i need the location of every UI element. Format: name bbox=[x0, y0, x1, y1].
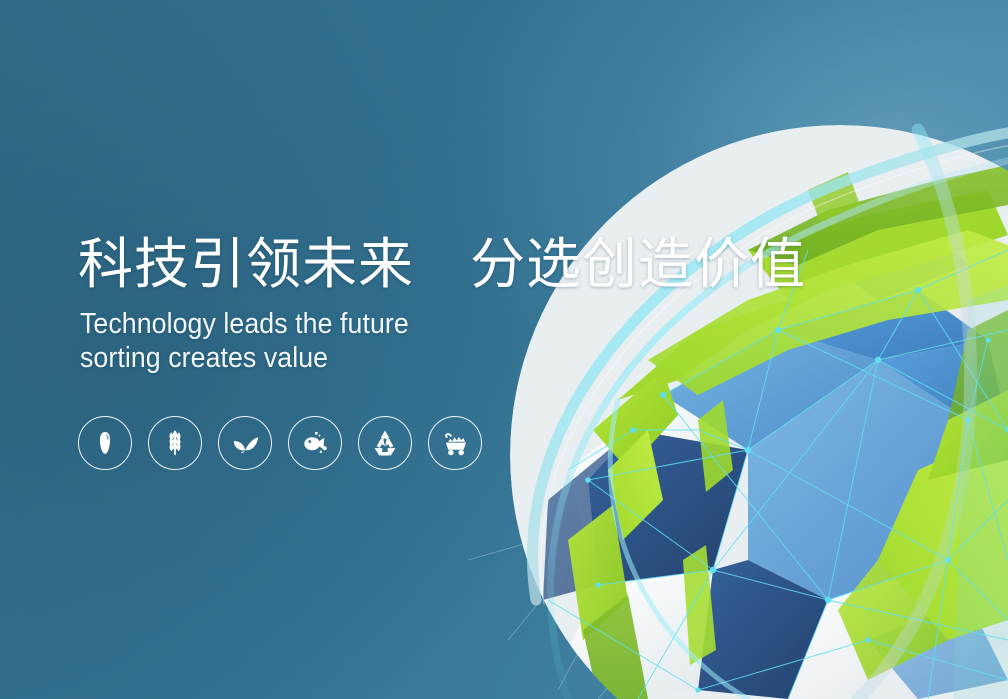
wheat-ear-icon[interactable] bbox=[148, 416, 202, 470]
subtitle-english: Technology leads the future sorting crea… bbox=[80, 307, 722, 375]
mining-cart-icon[interactable] bbox=[428, 416, 482, 470]
industry-icon-row bbox=[78, 416, 482, 470]
recycle-icon[interactable] bbox=[358, 416, 412, 470]
fish-icon[interactable] bbox=[288, 416, 342, 470]
tea-leaf-icon[interactable] bbox=[218, 416, 272, 470]
headline-chinese: 科技引领未来 分选创造价值 bbox=[78, 236, 778, 293]
subtitle-line-2: sorting creates value bbox=[80, 341, 722, 375]
rice-grain-icon[interactable] bbox=[78, 416, 132, 470]
subtitle-line-1: Technology leads the future bbox=[80, 307, 722, 341]
hero-copy: 科技引领未来 分选创造价值 Technology leads the futur… bbox=[78, 236, 778, 376]
hero-banner: 科技引领未来 分选创造价值 Technology leads the futur… bbox=[0, 0, 1008, 699]
